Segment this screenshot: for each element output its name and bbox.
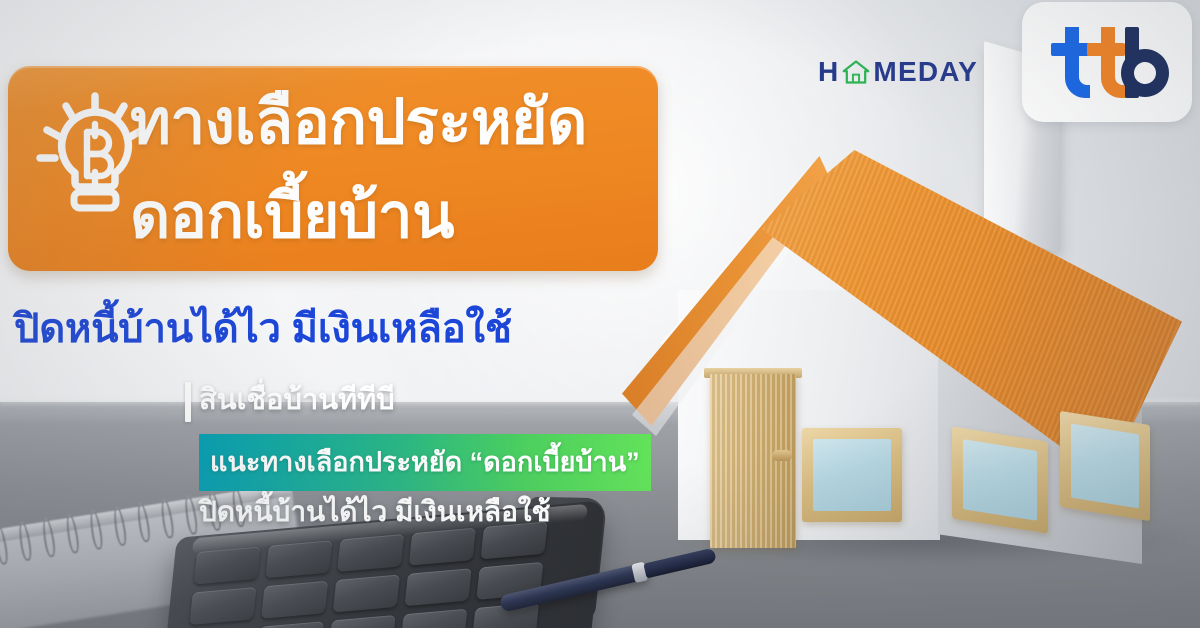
- background-vignette: [0, 0, 1200, 628]
- promo-banner: ทางเลือกประหยัด ดอกเบี้ยบ้าน ปิดหนี้บ้าน…: [0, 0, 1200, 628]
